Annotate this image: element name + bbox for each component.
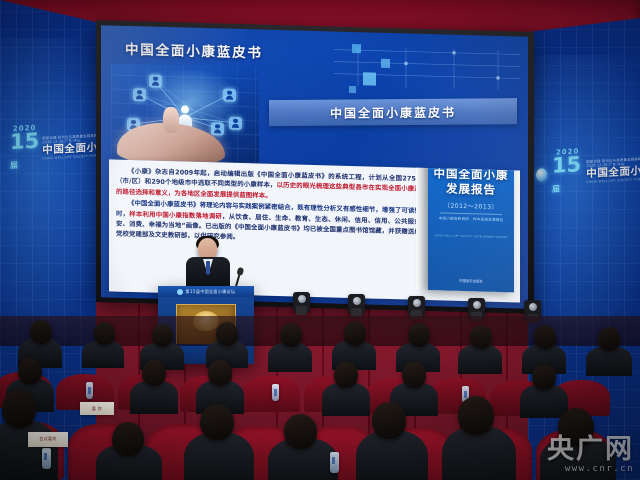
watermark-url: www.cnr.cn <box>547 464 634 474</box>
decor-square <box>349 86 356 93</box>
attendee-head <box>402 362 426 388</box>
attendee-head <box>142 360 166 386</box>
person-node-icon <box>149 75 162 88</box>
conference-photo: 2020 15届 国家治理·现代化与高质量发展高峰论坛 2020.12.26 广… <box>0 0 640 480</box>
attendee-head <box>598 327 620 351</box>
seat[interactable] <box>242 376 300 412</box>
attendee-head <box>334 362 358 388</box>
speaker <box>186 238 230 292</box>
stage-light <box>468 298 485 318</box>
forum-edition-unit-right: 届 <box>552 184 560 193</box>
slide-image-network <box>111 63 259 163</box>
forum-logo-right: 2020 15届 国家治理·现代化与高质量发展高峰论坛 2020.12.26 广… <box>536 142 640 199</box>
stage-light <box>408 296 425 316</box>
attendee-head <box>152 324 173 347</box>
attendee-head <box>18 358 42 384</box>
book-publisher: 中国言实出版社 <box>428 277 514 284</box>
attendee-head <box>284 414 317 449</box>
attendee-head <box>94 322 115 345</box>
slide-body-text: 《小康》杂志自2009年起，启动编辑出版《中国全面小康蓝皮书》的系统工程，计划从… <box>116 166 434 249</box>
book-subtitle: 中国小康指数调研 · 样本县域发展报告 <box>428 215 514 223</box>
water-bottle <box>86 382 93 399</box>
person-node-icon <box>223 89 236 102</box>
person-node-icon <box>133 88 146 101</box>
book-title: 中国全面小康 发展报告 <box>428 166 514 198</box>
book-page-edge <box>416 159 428 290</box>
decor-square <box>381 59 390 68</box>
person-node-icon <box>211 122 224 135</box>
water-bottle <box>272 384 279 401</box>
slide-content-panel: 《小康》杂志自2009年起，启动编辑出版《中国全面小康蓝皮书》的系统工程，计划从… <box>109 159 520 302</box>
attendee-head <box>208 360 232 386</box>
attendee-head <box>2 390 36 428</box>
water-bottle <box>42 448 51 469</box>
book-cover: 小康 XIAOKANG 全面小康蓝皮书 中国全面小康 发展报告 （2012～20… <box>428 159 514 292</box>
book-subtitle-en: CHINA WELL-OFF SOCIETY DEVELOPMENT REPOR… <box>428 234 514 240</box>
forum-logo-left: 2020 15届 国家治理·现代化与高质量发展高峰论坛 2020.12.26 广… <box>10 119 96 175</box>
watermark-logo: 央广网 <box>547 436 634 464</box>
attendee-head <box>200 404 234 440</box>
forum-globe-icon <box>536 168 547 182</box>
para-2b: 样本利用中国小康指数落地调研 <box>129 210 222 221</box>
attendee-head <box>216 322 238 346</box>
name-card: 会议嘉宾 <box>28 432 68 447</box>
attendee-head <box>534 325 556 349</box>
podium-banner: 第15届中国全面小康论坛 <box>158 286 254 297</box>
attendee-head <box>344 321 366 346</box>
attendee-head <box>280 323 302 347</box>
podium-logo-icon <box>177 289 183 295</box>
stage-light <box>348 294 365 314</box>
projection-screen-frame: 中国全面小康蓝皮书 <box>96 20 534 314</box>
watermark: 央广网 www.cnr.cn <box>547 436 634 474</box>
attendee-head <box>372 402 406 439</box>
slide-band-title: 中国全面小康蓝皮书 <box>269 98 517 126</box>
slide-decor-nodes <box>332 41 522 92</box>
name-card: 嘉 宾 <box>80 402 114 415</box>
forum-edition-number-left: 15 <box>10 129 39 155</box>
person-node-icon <box>229 117 242 130</box>
attendee-head <box>532 364 556 390</box>
attendee-head <box>112 422 144 456</box>
decor-square <box>363 72 376 85</box>
stage-light <box>293 292 310 312</box>
attendee-head <box>458 396 494 435</box>
attendee-head <box>470 325 492 349</box>
forum-edition-number-right: 15 <box>552 152 581 178</box>
slide-header-title: 中国全面小康蓝皮书 <box>125 38 263 62</box>
speaker-tie <box>206 261 210 274</box>
attendee-head <box>408 323 430 347</box>
attendee-head <box>30 320 52 344</box>
water-bottle <box>330 452 339 473</box>
book-year-range: （2012～2013） <box>428 200 514 211</box>
forum-edition-unit-left: 届 <box>10 161 18 170</box>
projection-screen: 中国全面小康蓝皮书 <box>101 25 528 309</box>
